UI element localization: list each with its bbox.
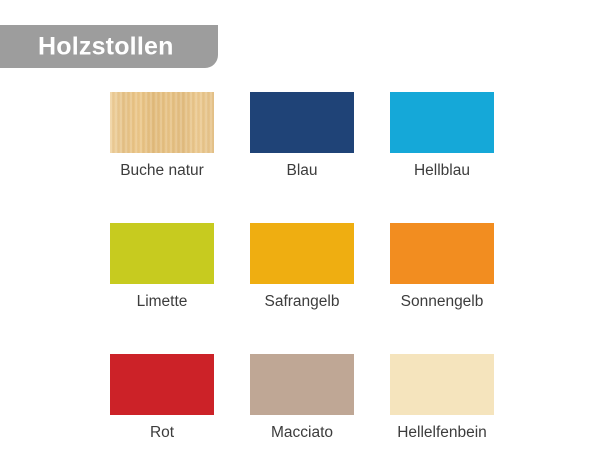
swatch-item[interactable]: Safrangelb [232,223,372,310]
swatch-item[interactable]: Blau [232,92,372,179]
swatch-label: Rot [150,424,174,441]
swatch-label: Safrangelb [265,293,340,310]
page-title: Holzstollen [38,34,174,59]
swatch-color-chip[interactable] [390,92,494,153]
swatch-item[interactable]: Sonnengelb [372,223,512,310]
swatch-item[interactable]: Hellblau [372,92,512,179]
swatch-color-chip[interactable] [250,223,354,284]
header-tab: Holzstollen [0,25,218,68]
swatch-color-chip[interactable] [250,92,354,153]
swatch-label: Sonnengelb [401,293,484,310]
swatch-label: Blau [286,162,317,179]
swatch-label: Hellelfenbein [397,424,487,441]
swatch-item[interactable]: Macciato [232,354,372,441]
swatch-color-chip[interactable] [110,92,214,153]
swatch-color-chip[interactable] [250,354,354,415]
swatch-label: Buche natur [120,162,204,179]
color-swatch-grid: Buche naturBlauHellblauLimetteSafrangelb… [92,92,512,441]
swatch-color-chip[interactable] [390,223,494,284]
swatch-item[interactable]: Hellelfenbein [372,354,512,441]
swatch-color-chip[interactable] [110,354,214,415]
swatch-label: Macciato [271,424,333,441]
swatch-color-chip[interactable] [390,354,494,415]
swatch-item[interactable]: Rot [92,354,232,441]
swatch-label: Limette [137,293,188,310]
swatch-label: Hellblau [414,162,470,179]
swatch-color-chip[interactable] [110,223,214,284]
swatch-item[interactable]: Buche natur [92,92,232,179]
swatch-item[interactable]: Limette [92,223,232,310]
